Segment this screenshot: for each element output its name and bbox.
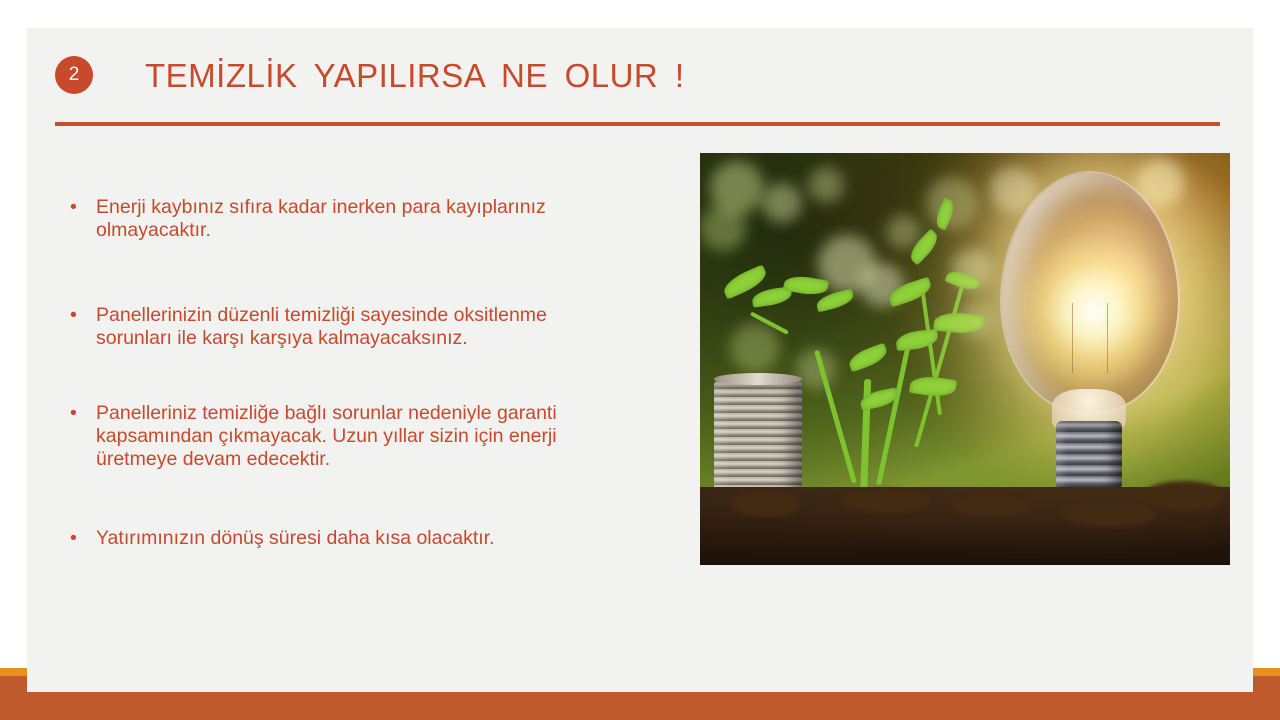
list-item: • Panelleriniz temizliğe bağlı sorunlar … bbox=[68, 402, 628, 471]
list-item: • Enerji kaybınız sıfıra kadar inerken p… bbox=[68, 196, 628, 242]
spacer bbox=[68, 471, 628, 527]
list-item: • Yatırımınızın dönüş süresi daha kısa o… bbox=[68, 527, 628, 550]
bokeh-circle bbox=[762, 183, 802, 223]
spacer bbox=[68, 242, 628, 304]
title-underline-rule bbox=[55, 122, 1220, 126]
slide: 2 TEMİZLİK YAPILIRSA NE OLUR ! • Enerji … bbox=[0, 0, 1280, 720]
list-item-text: Enerji kaybınız sıfıra kadar inerken par… bbox=[96, 196, 546, 241]
photo-background bbox=[700, 153, 1230, 565]
plant-leaf bbox=[909, 374, 957, 399]
slide-number-badge: 2 bbox=[55, 56, 93, 94]
bullet-list: • Enerji kaybınız sıfıra kadar inerken p… bbox=[68, 196, 628, 550]
title-row: 2 TEMİZLİK YAPILIRSA NE OLUR ! bbox=[55, 46, 1220, 108]
plant-leaf bbox=[846, 343, 889, 373]
bullet-marker-icon: • bbox=[70, 196, 77, 219]
lightbulb-plant-coins-photo bbox=[700, 153, 1230, 565]
list-item-text: Panellerinizin düzenli temizliği sayesin… bbox=[96, 304, 547, 349]
bullet-marker-icon: • bbox=[70, 304, 77, 327]
bokeh-circle bbox=[730, 323, 780, 373]
bullet-marker-icon: • bbox=[70, 402, 77, 425]
list-item-text: Panelleriniz temizliğe bağlı sorunlar ne… bbox=[96, 402, 557, 470]
soil-lump bbox=[950, 495, 1030, 517]
lightbulb-filament bbox=[1072, 303, 1108, 373]
list-item-text: Yatırımınızın dönüş süresi daha kısa ola… bbox=[96, 527, 495, 549]
spacer bbox=[68, 350, 628, 402]
soil-lump bbox=[730, 491, 800, 517]
lightbulb-screw-base bbox=[1056, 421, 1122, 493]
soil-lump bbox=[840, 489, 930, 513]
bokeh-circle bbox=[808, 167, 844, 203]
list-item: • Panellerinizin düzenli temizliği sayes… bbox=[68, 304, 628, 350]
lightbulb-glass bbox=[1000, 171, 1180, 413]
soil-ground bbox=[700, 487, 1230, 565]
coin-stack-top bbox=[714, 373, 802, 385]
bullet-marker-icon: • bbox=[70, 527, 77, 550]
soil-lump bbox=[1144, 481, 1224, 511]
soil-lump bbox=[1060, 501, 1156, 527]
plant-stem bbox=[876, 338, 912, 486]
page-title: TEMİZLİK YAPILIRSA NE OLUR ! bbox=[145, 50, 685, 102]
bokeh-circle bbox=[700, 205, 746, 251]
